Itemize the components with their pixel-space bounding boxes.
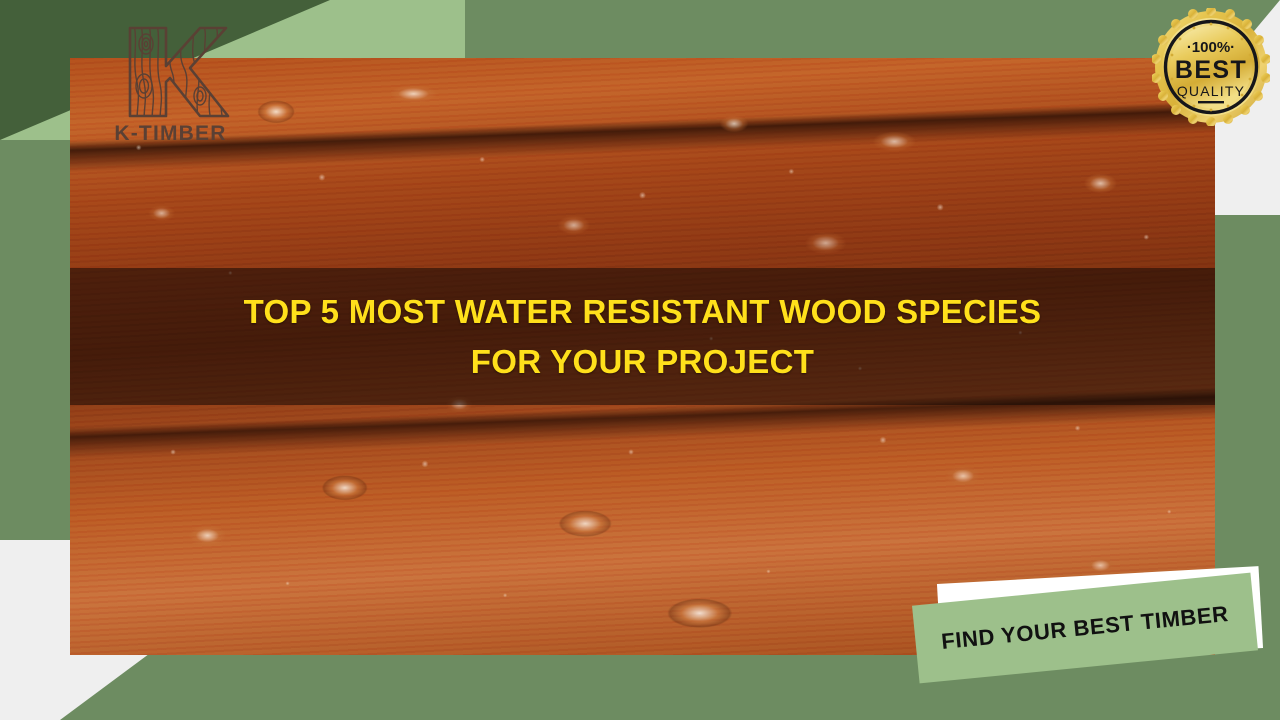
wood-grain-letter-k-icon [108,22,233,122]
brand-logo[interactable]: K-TIMBER [108,22,233,140]
badge-sub-text: QUALITY [1177,83,1245,99]
title-line-2: FOR YOUR PROJECT [471,337,814,387]
title-overlay-band: TOP 5 MOST WATER RESISTANT WOOD SPECIES … [70,268,1215,405]
cta-ribbon[interactable]: FIND YOUR BEST TIMBER [915,575,1265,675]
ribbon-label: FIND YOUR BEST TIMBER [940,601,1230,655]
title-line-1: TOP 5 MOST WATER RESISTANT WOOD SPECIES [244,287,1042,337]
brand-name: K-TIMBER [108,122,233,146]
slide-canvas: TOP 5 MOST WATER RESISTANT WOOD SPECIES … [0,0,1280,720]
badge-underline [1198,101,1224,103]
badge-main-text: BEST [1175,56,1247,84]
quality-seal-icon: ·100%· BEST QUALITY [1152,8,1270,126]
badge-percent-text: ·100%· [1187,39,1235,56]
quality-seal-badge: ·100%· BEST QUALITY [1152,8,1270,126]
